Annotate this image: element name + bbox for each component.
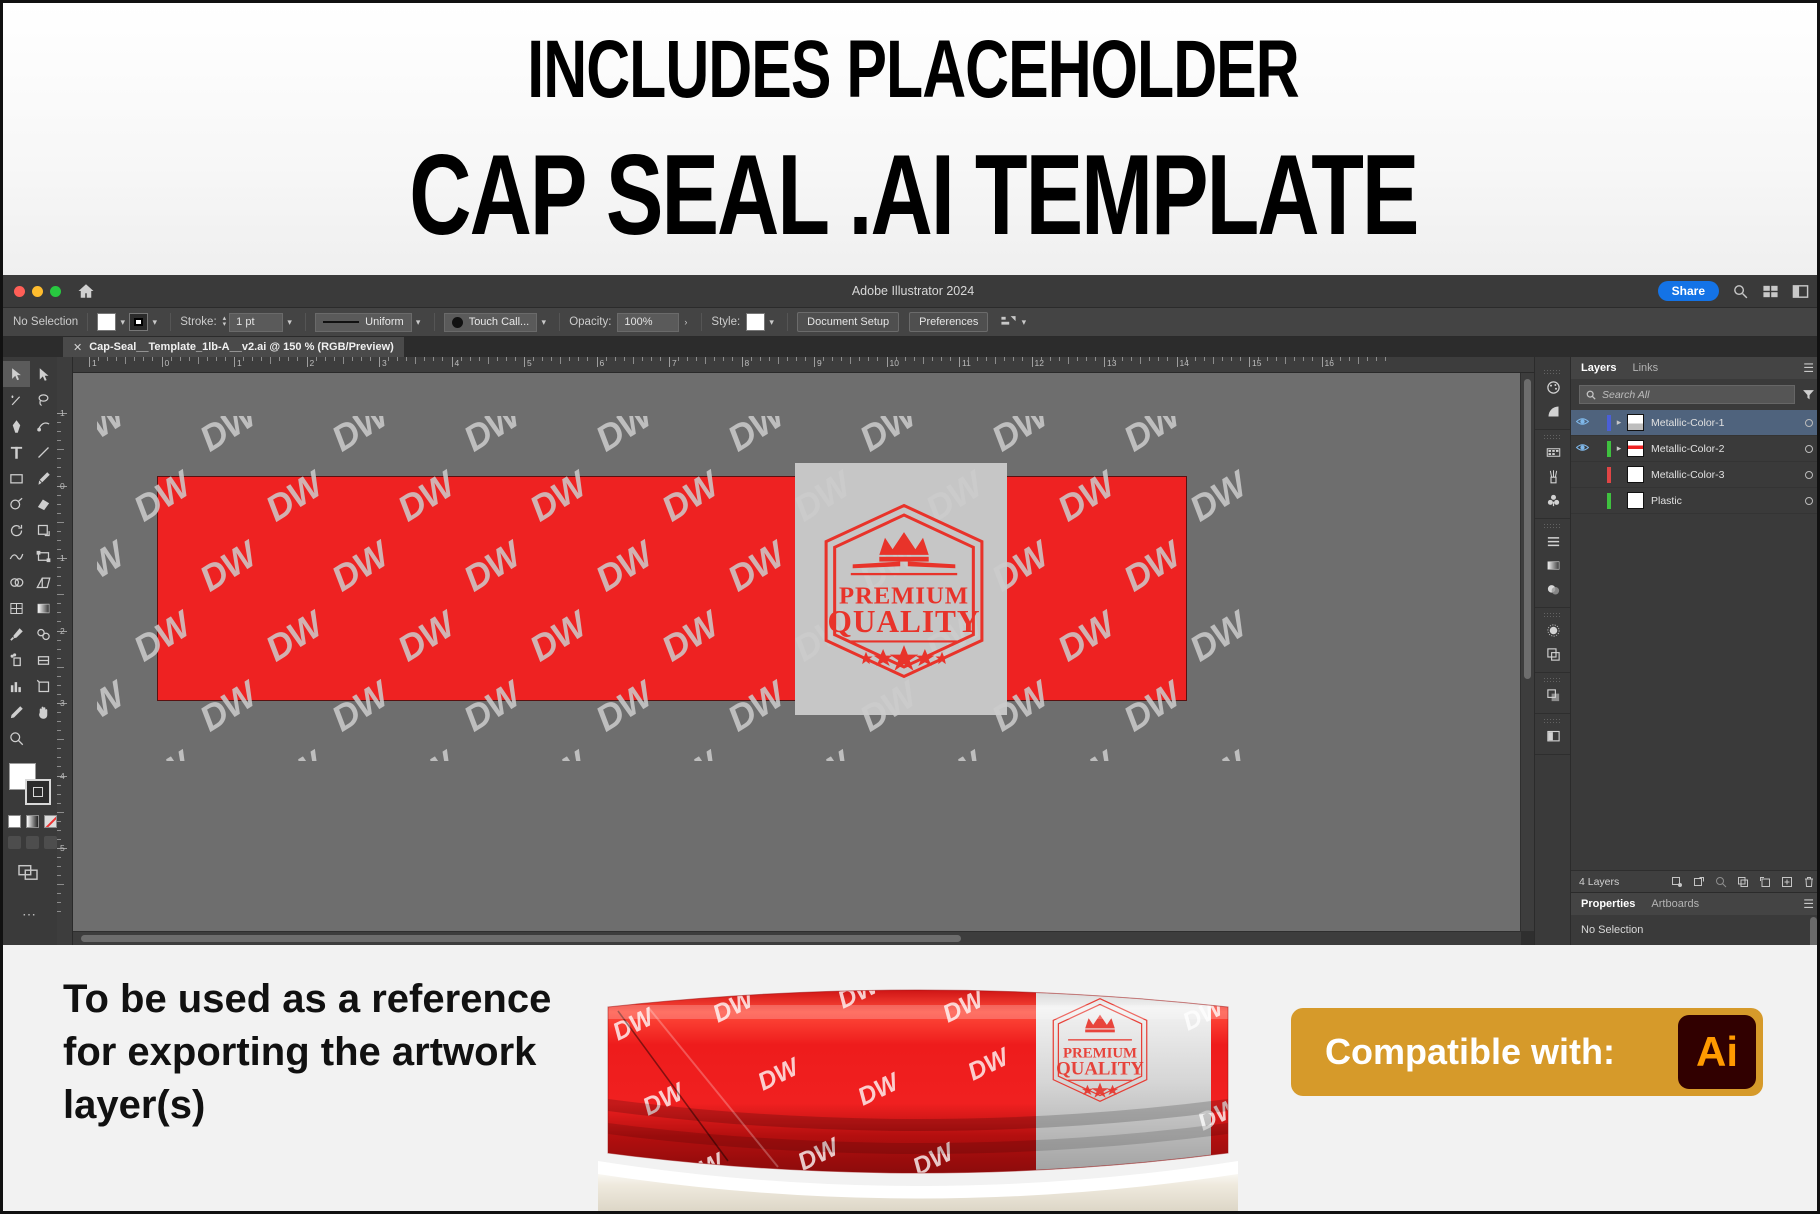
ruler-minor-tick — [57, 449, 64, 450]
symbol-sprayer-tool[interactable] — [3, 647, 30, 673]
ruler-minor-tick — [723, 357, 724, 361]
stroke-label: Stroke: — [180, 316, 216, 328]
watermark-dw: DW — [324, 534, 395, 600]
canvas-vertical-scrollbar[interactable] — [1521, 373, 1534, 931]
ruler-minor-tick — [57, 757, 61, 758]
lasso-tool[interactable] — [30, 387, 57, 413]
release-to-layers-icon[interactable] — [1693, 876, 1705, 888]
rectangle-tool[interactable] — [3, 465, 30, 491]
ruler-minor-tick — [515, 357, 516, 361]
ruler-minor-tick — [57, 803, 61, 804]
ruler-minor-tick — [57, 694, 61, 695]
panel-menu-icon[interactable]: ☰ — [1803, 897, 1814, 911]
layer-target-indicator[interactable] — [1805, 497, 1813, 505]
ruler-minor-tick — [433, 357, 434, 361]
watermark-dw: DW — [97, 416, 132, 460]
layer-visibility-icon[interactable] — [1571, 416, 1593, 430]
align-icon[interactable] — [1535, 529, 1571, 553]
divider — [434, 313, 435, 331]
banner-headline-2: CAP SEAL .AI TEMPLATE — [409, 129, 1417, 262]
artboard-tool[interactable] — [30, 673, 57, 699]
workspace-switcher-icon[interactable] — [1792, 283, 1809, 300]
ruler-label: 8 — [742, 358, 750, 368]
document-setup-button[interactable]: Document Setup — [797, 312, 899, 332]
ruler-minor-tick — [57, 594, 64, 595]
magic-wand-tool[interactable] — [3, 387, 30, 413]
watermark-dw: DW — [786, 744, 857, 761]
premium-quality-badge: PREMIUM QUALITY — [809, 496, 999, 686]
watermark-dw: DW — [918, 744, 989, 761]
tab-links[interactable]: Links — [1632, 362, 1658, 374]
ruler-minor-tick — [642, 357, 643, 361]
layer-thumbnail — [1627, 492, 1644, 509]
ruler-minor-tick — [57, 440, 61, 441]
home-icon[interactable] — [77, 282, 95, 300]
layer-name: Metallic-Color-3 — [1651, 469, 1725, 481]
symbols-icon[interactable] — [1535, 488, 1571, 512]
ruler-minor-tick — [1050, 357, 1051, 361]
ruler-minor-tick — [796, 357, 797, 361]
cap-seal-artwork[interactable]: DWDWDWDWDWDWDWDWDWDWDWDWDWDWDWDWDWDWDWDW… — [157, 476, 1187, 701]
shaper-tool[interactable] — [3, 491, 30, 517]
ruler-minor-tick — [542, 357, 543, 361]
fill-color-swatch[interactable] — [97, 313, 116, 331]
layer-row[interactable]: ▸Metallic-Color-1 — [1571, 410, 1820, 436]
rotate-tool[interactable] — [3, 517, 30, 543]
ruler-minor-tick — [57, 467, 61, 468]
opacity-label: Opacity: — [569, 316, 611, 328]
panel-dock-group: :::::: — [1535, 365, 1570, 430]
ruler-minor-tick — [57, 748, 61, 749]
ruler-label: 1 — [89, 358, 97, 368]
ruler-minor-tick — [1140, 357, 1141, 364]
layer-target-indicator[interactable] — [1805, 419, 1813, 427]
ruler-minor-tick — [1376, 357, 1377, 361]
compatible-badge: Compatible with: Ai — [1291, 1008, 1763, 1096]
ruler-minor-tick — [361, 357, 362, 361]
gradient-fill-icon[interactable] — [26, 815, 39, 828]
ruler-minor-tick — [1204, 357, 1205, 361]
ruler-minor-tick — [995, 357, 996, 364]
ruler-minor-tick — [479, 357, 480, 361]
swatches-icon[interactable] — [1535, 440, 1571, 464]
layer-expand-icon[interactable]: ▸ — [1611, 443, 1627, 454]
stroke-weight-caret-icon[interactable]: ▾ — [283, 317, 296, 328]
watermark-dw: DW — [1050, 464, 1121, 530]
shape-builder-tool[interactable] — [3, 569, 30, 595]
divider — [559, 313, 560, 331]
ruler-minor-tick — [497, 357, 498, 361]
ruler-minor-tick — [57, 504, 61, 505]
stroke-profile-label: Uniform — [365, 316, 404, 328]
line-segment-tool[interactable] — [30, 439, 57, 465]
width-tool[interactable] — [3, 543, 30, 569]
locate-object-icon[interactable] — [1671, 876, 1683, 888]
ruler-minor-tick — [57, 739, 64, 740]
watermark-dw: DW — [258, 604, 329, 670]
ruler-minor-tick — [678, 357, 679, 361]
pencil-tool[interactable] — [3, 699, 30, 725]
ruler-label: 13 — [1104, 358, 1116, 368]
watermark-dw: DW — [192, 674, 263, 740]
eyedropper-tool[interactable] — [3, 621, 30, 647]
ruler-label: 2 — [307, 358, 315, 368]
ruler-minor-tick — [1213, 357, 1214, 364]
align-to-selection-icon[interactable] — [1000, 314, 1017, 331]
ruler-minor-tick — [57, 513, 61, 514]
color-icon[interactable] — [1535, 375, 1571, 399]
maximize-window-button[interactable] — [50, 286, 61, 297]
compatible-label: Compatible with: — [1325, 1031, 1615, 1073]
share-button[interactable]: Share — [1658, 281, 1719, 301]
window-controls[interactable] — [14, 286, 61, 297]
horizontal-ruler[interactable]: 1012345678910111213141516 — [57, 357, 1534, 373]
layer-row[interactable]: Plastic — [1571, 488, 1820, 514]
ruler-minor-tick — [615, 357, 616, 361]
ruler-minor-tick — [189, 357, 190, 361]
layers-footer-icons — [1671, 876, 1815, 888]
search-icon — [1586, 390, 1596, 400]
ruler-minor-tick — [415, 357, 416, 364]
ruler-minor-tick — [986, 357, 987, 361]
artboard-background: DWDWDWDWDWDWDWDWDWDWDWDWDWDWDWDWDWDWDWDW… — [73, 373, 1520, 931]
stroke-weight-stepper[interactable]: ▴▾ — [223, 316, 227, 328]
watermark-dw: DW — [126, 744, 197, 761]
canvas-area[interactable]: 1012345678910111213141516 1012345 DWDWDW… — [57, 357, 1534, 945]
ruler-minor-tick — [551, 357, 552, 361]
fill-dropdown-caret-icon[interactable]: ▾ — [116, 317, 129, 328]
ruler-minor-tick — [279, 357, 280, 361]
ruler-label: 3 — [60, 698, 65, 708]
paintbrush-tool[interactable] — [30, 465, 57, 491]
watermark-layer: DWDWDWDWDWDWDWDWDWDWDWDWDWDWDWDWDWDWDWDW… — [97, 416, 1247, 761]
layer-visibility-icon[interactable] — [1571, 442, 1593, 456]
cap-seal-product-photo: DW DW DW DW DW DW DW DW DW DW DW DW DW — [588, 971, 1248, 1214]
draw-normal-icon[interactable] — [8, 836, 21, 849]
ruler-label: 7 — [669, 358, 677, 368]
ruler-minor-tick — [1267, 357, 1268, 361]
opacity-options-icon[interactable]: › — [679, 317, 692, 327]
ruler-minor-tick — [778, 357, 779, 364]
zoom-tool[interactable] — [3, 725, 30, 751]
poster-root: INCLUDES PLACEHOLDER CAP SEAL .AI TEMPLA… — [0, 0, 1820, 1214]
scale-tool[interactable] — [30, 517, 57, 543]
ruler-minor-tick — [841, 357, 842, 361]
ruler-label: 4 — [452, 358, 460, 368]
ruler-minor-tick — [1077, 357, 1078, 361]
watermark-dw: DW — [324, 674, 395, 740]
ruler-minor-tick — [57, 603, 61, 604]
watermark-dw: DW — [1050, 744, 1121, 761]
draw-mode-row — [8, 836, 57, 849]
make-clipping-mask-icon[interactable] — [1737, 876, 1749, 888]
title-bar-actions: Share — [1658, 281, 1820, 301]
watermark-dw: DW — [1116, 534, 1187, 600]
ruler-minor-tick — [932, 357, 933, 361]
document-tab[interactable]: ✕ Cap-Seal__Template_1lb-A__v2.ai @ 150 … — [63, 337, 404, 357]
canvas-horizontal-scrollbar[interactable] — [73, 932, 1521, 945]
ruler-minor-tick — [606, 357, 607, 361]
vertical-ruler[interactable]: 1012345 — [57, 357, 73, 945]
delete-selection-icon[interactable] — [1803, 876, 1815, 888]
ruler-label: 0 — [60, 481, 65, 491]
watermark-dw: DW — [192, 534, 263, 600]
free-transform-tool[interactable] — [30, 543, 57, 569]
layer-row[interactable]: ▸Metallic-Color-2 — [1571, 436, 1820, 462]
ruler-minor-tick — [1004, 357, 1005, 361]
color-guide-icon[interactable] — [1535, 399, 1571, 423]
ruler-minor-tick — [488, 357, 489, 364]
ruler-minor-tick — [578, 357, 579, 361]
tab-artboards[interactable]: Artboards — [1651, 898, 1699, 910]
ruler-minor-tick — [1231, 357, 1232, 361]
watermark-dw: DW — [588, 534, 659, 600]
watermark-dw: DW — [852, 416, 923, 460]
ruler-label: 2 — [60, 626, 65, 636]
properties-panel-tabs: Properties Artboards ☰ — [1571, 893, 1820, 915]
ruler-minor-tick — [914, 357, 915, 361]
ruler-label: 15 — [1249, 358, 1261, 368]
brushes-icon[interactable] — [1535, 464, 1571, 488]
create-new-sublayer-icon[interactable] — [1759, 876, 1771, 888]
ruler-minor-tick — [57, 712, 61, 713]
watermark-dw: DW — [97, 534, 132, 600]
appearance-icon[interactable] — [1535, 618, 1571, 642]
gradient-icon[interactable] — [1535, 553, 1571, 577]
draw-behind-icon[interactable] — [26, 836, 39, 849]
stroke-color-box[interactable] — [25, 779, 51, 805]
ruler-minor-tick — [1385, 357, 1386, 361]
divider — [87, 313, 88, 331]
stroke-profile-select[interactable]: Uniform — [315, 313, 412, 332]
ruler-minor-tick — [569, 357, 570, 361]
ruler-minor-tick — [57, 721, 61, 722]
layer-expand-icon[interactable]: ▸ — [1611, 417, 1627, 428]
ruler-minor-tick — [461, 357, 462, 361]
arrange-documents-icon[interactable] — [1762, 283, 1779, 300]
control-bar: No Selection ▾ ▾ Stroke: ▴▾ 1 pt ▾ Unifo… — [3, 307, 1820, 337]
ruler-minor-tick — [624, 357, 625, 361]
style-caret-icon[interactable]: ▾ — [765, 317, 778, 328]
ruler-minor-tick — [57, 495, 61, 496]
ruler-minor-tick — [868, 357, 869, 361]
ruler-minor-tick — [805, 357, 806, 361]
watermark-dw: DW — [522, 744, 593, 761]
ruler-minor-tick — [57, 658, 61, 659]
ruler-minor-tick — [57, 812, 64, 813]
gradient-tool[interactable] — [30, 595, 57, 621]
perspective-grid-tool[interactable] — [30, 569, 57, 595]
watermark-dw: DW — [456, 674, 527, 740]
filter-icon[interactable] — [1802, 388, 1815, 401]
ruler-minor-tick — [397, 357, 398, 361]
close-window-button[interactable] — [14, 286, 25, 297]
ruler-minor-tick — [57, 676, 61, 677]
ruler-minor-tick — [57, 902, 61, 903]
ruler-label: 14 — [1177, 358, 1189, 368]
properties-status: No Selection — [1581, 924, 1643, 936]
ruler-minor-tick — [57, 585, 61, 586]
ruler-minor-tick — [1122, 357, 1123, 361]
window-title-bar: Adobe Illustrator 2024 Share — [3, 275, 1820, 307]
blend-tool[interactable] — [30, 621, 57, 647]
ruler-minor-tick — [57, 422, 61, 423]
hand-tool[interactable] — [30, 699, 57, 725]
graphic-styles-icon[interactable] — [1535, 642, 1571, 666]
ruler-minor-tick — [1258, 357, 1259, 361]
ruler-minor-tick — [732, 357, 733, 361]
selection-tool[interactable] — [3, 361, 30, 387]
ruler-minor-tick — [859, 357, 860, 361]
none-fill-icon[interactable] — [44, 815, 57, 828]
ruler-minor-tick — [125, 357, 126, 364]
layer-target-indicator[interactable] — [1805, 445, 1813, 453]
tab-properties[interactable]: Properties — [1581, 898, 1635, 910]
search-icon[interactable] — [1732, 283, 1749, 300]
watermark-dw: DW — [390, 744, 461, 761]
app-body: ⋯ 1012345678910111213141516 1012345 DWDW… — [3, 357, 1820, 945]
ruler-minor-tick — [1186, 357, 1187, 361]
ruler-minor-tick — [1068, 357, 1069, 364]
edit-toolbar-icon[interactable]: ⋯ — [3, 906, 57, 923]
ruler-minor-tick — [198, 357, 199, 364]
opacity-input[interactable]: 100% — [617, 313, 679, 332]
panel-menu-icon[interactable]: ☰ — [1803, 361, 1814, 375]
ruler-minor-tick — [560, 357, 561, 364]
ruler-minor-tick — [216, 357, 217, 361]
brush-definition-select[interactable]: Touch Call... — [444, 313, 538, 332]
ruler-minor-tick — [1285, 357, 1286, 364]
ruler-minor-tick — [316, 357, 317, 361]
illustrator-window: Adobe Illustrator 2024 Share No Selectio… — [3, 275, 1820, 945]
watermark-dw: DW — [456, 534, 527, 600]
watermark-dw: DW — [654, 604, 725, 670]
stroke-color-swatch[interactable] — [129, 313, 148, 331]
ruler-minor-tick — [57, 476, 61, 477]
ruler-minor-tick — [896, 357, 897, 361]
ruler-minor-tick — [1331, 357, 1332, 361]
brush-caret-icon[interactable]: ▾ — [537, 317, 550, 328]
ruler-minor-tick — [1240, 357, 1241, 361]
create-new-layer-icon[interactable] — [1781, 876, 1793, 888]
ruler-minor-tick — [57, 576, 61, 577]
layer-target-indicator[interactable] — [1805, 471, 1813, 479]
collect-in-new-layer-icon[interactable] — [1715, 876, 1727, 888]
layers-count: 4 Layers — [1579, 876, 1619, 888]
mesh-tool[interactable] — [3, 595, 30, 621]
divider — [170, 313, 171, 331]
layer-name: Metallic-Color-2 — [1651, 443, 1725, 455]
type-tool[interactable] — [3, 439, 30, 465]
layer-row[interactable]: Metallic-Color-3 — [1571, 462, 1820, 488]
ruler-minor-tick — [1158, 357, 1159, 361]
ruler-minor-tick — [343, 357, 344, 364]
ruler-minor-tick — [207, 357, 208, 361]
layers-search-row: Search All — [1571, 379, 1820, 410]
ruler-minor-tick — [923, 357, 924, 364]
ruler-minor-tick — [705, 357, 706, 364]
pathfinder-icon[interactable] — [1535, 683, 1571, 707]
graphic-style-swatch[interactable] — [746, 313, 765, 331]
watermark-dw: DW — [390, 464, 461, 530]
watermark-dw: DW — [1182, 604, 1247, 670]
ruler-label: 0 — [162, 358, 170, 368]
ruler-minor-tick — [370, 357, 371, 361]
compatible-pill: Compatible with: Ai — [1291, 1008, 1763, 1096]
ruler-minor-tick — [769, 357, 770, 361]
pen-tool[interactable] — [3, 413, 30, 439]
selection-status: No Selection — [13, 316, 78, 328]
direct-selection-tool[interactable] — [30, 361, 57, 387]
ruler-minor-tick — [116, 357, 117, 361]
document-tab-label: Cap-Seal__Template_1lb-A__v2.ai @ 150 % … — [89, 341, 394, 353]
ruler-minor-tick — [57, 540, 61, 541]
draw-inside-icon[interactable] — [44, 836, 57, 849]
watermark-dw: DW — [192, 416, 263, 460]
artboards-icon[interactable] — [1535, 724, 1571, 748]
fill-stroke-color-control[interactable] — [9, 763, 51, 805]
ruler-minor-tick — [1349, 357, 1350, 361]
panel-dock-group: :::::: — [1535, 673, 1570, 714]
minimize-window-button[interactable] — [32, 286, 43, 297]
ruler-minor-tick — [57, 549, 61, 550]
align-caret-icon[interactable]: ▾ — [1017, 317, 1030, 328]
layers-search-input[interactable]: Search All — [1579, 385, 1795, 404]
ruler-minor-tick — [334, 357, 335, 361]
properties-status-row: No Selection — [1571, 915, 1820, 945]
layer-color-bar — [1607, 467, 1611, 483]
ruler-minor-tick — [751, 357, 752, 361]
ruler-label: 5 — [60, 843, 65, 853]
eraser-tool[interactable] — [30, 491, 57, 517]
ruler-minor-tick — [968, 357, 969, 361]
ruler-minor-tick — [787, 357, 788, 361]
close-tab-icon[interactable]: ✕ — [73, 341, 82, 354]
layers-panel-footer: 4 Layers — [1571, 870, 1820, 892]
document-tab-bar: ✕ Cap-Seal__Template_1lb-A__v2.ai @ 150 … — [3, 337, 1820, 357]
column-graph-tool[interactable] — [3, 673, 30, 699]
ruler-minor-tick — [1013, 357, 1014, 361]
stroke-weight-input[interactable]: 1 pt — [229, 313, 283, 332]
ruler-minor-tick — [1131, 357, 1132, 361]
panel-dock-group: :::::: — [1535, 430, 1570, 519]
ruler-minor-tick — [134, 357, 135, 361]
ruler-minor-tick — [1149, 357, 1150, 361]
ruler-minor-tick — [297, 357, 298, 361]
ruler-minor-tick — [941, 357, 942, 361]
ruler-minor-tick — [687, 357, 688, 361]
stroke-profile-caret-icon[interactable]: ▾ — [412, 317, 425, 328]
watermark-dw: DW — [97, 674, 132, 740]
preferences-button[interactable]: Preferences — [909, 312, 988, 332]
ruler-minor-tick — [424, 357, 425, 361]
slice-tool[interactable] — [30, 647, 57, 673]
ruler-label: 6 — [597, 358, 605, 368]
layers-search-placeholder: Search All — [1602, 389, 1649, 401]
ruler-minor-tick — [57, 649, 61, 650]
curvature-tool[interactable] — [30, 413, 57, 439]
ruler-minor-tick — [171, 357, 172, 361]
screen-mode-icon[interactable] — [17, 863, 57, 886]
ruler-minor-tick — [388, 357, 389, 361]
ruler-minor-tick — [905, 357, 906, 361]
stroke-dropdown-caret-icon[interactable]: ▾ — [148, 317, 161, 328]
watermark-dw: DW — [1050, 604, 1121, 670]
color-fill-icon[interactable] — [8, 815, 21, 828]
transparency-icon[interactable] — [1535, 577, 1571, 601]
tab-layers[interactable]: Layers — [1581, 362, 1616, 374]
layer-thumbnail — [1627, 414, 1644, 431]
